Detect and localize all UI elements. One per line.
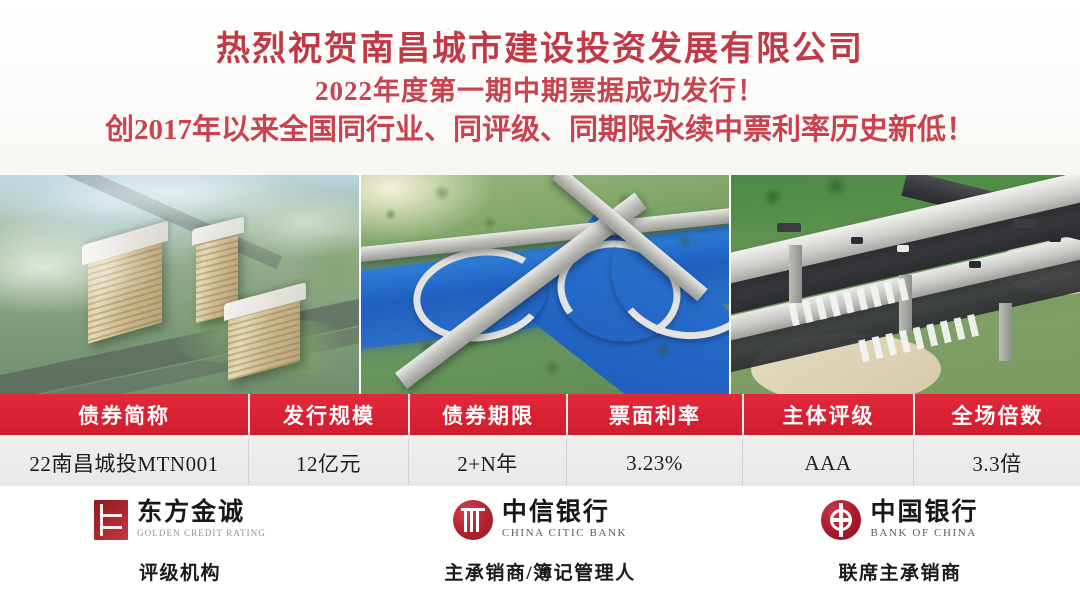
- bond-summary-table: 债券简称 发行规模 债券期限 票面利率 主体评级 全场倍数 22南昌城投MTN0…: [0, 394, 1080, 489]
- headline-line-1: 热烈祝贺南昌城市建设投资发展有限公司: [0, 28, 1080, 72]
- china-citic-bank-mark-icon: [453, 500, 493, 540]
- china-citic-bank-logo: 中信银行 CHINA CITIC BANK: [453, 496, 627, 544]
- golden-credit-rating-name-cn: 东方金诚: [137, 499, 245, 526]
- table-cell-subscription-multiple: 3.3倍: [913, 438, 1080, 488]
- table-cell-bond-name: 22南昌城投MTN001: [0, 438, 248, 488]
- sponsor-china-citic-bank: 中信银行 CHINA CITIC BANK 主承销商/簿记管理人: [360, 486, 720, 608]
- table-header-issuer-rating: 主体评级: [742, 394, 913, 435]
- bank-of-china-name-en: BANK OF CHINA: [870, 526, 976, 541]
- golden-credit-rating-logo: 东方金诚 GOLDEN CREDIT RATING: [94, 496, 266, 544]
- photo3-vehicle-1: [851, 237, 863, 244]
- photo-river-interchange-aerial: [359, 175, 730, 394]
- photo3-vehicle-bus-2: [1013, 219, 1037, 228]
- golden-credit-rating-mark-icon: [94, 500, 128, 540]
- sponsor-golden-credit-rating: 东方金诚 GOLDEN CREDIT RATING 评级机构: [0, 486, 360, 608]
- table-row: 22南昌城投MTN001 12亿元 2+N年 3.23% AAA 3.3倍: [0, 438, 1080, 489]
- photo3-vehicle-4: [1049, 235, 1061, 242]
- photo1-cloud-haze: [0, 175, 359, 394]
- china-citic-bank-name-en: CHINA CITIC BANK: [502, 526, 627, 541]
- photo3-vehicle-2: [897, 245, 909, 252]
- headline-line-3: 创2017年以来全国同行业、同评级、同期限永续中票利率历史新低！: [0, 110, 1080, 150]
- bank-of-china-mark-bar: [833, 518, 849, 522]
- headline-block: 热烈祝贺南昌城市建设投资发展有限公司 2022年度第一期中期票据成功发行！ 创2…: [0, 0, 1080, 175]
- photo3-bridge-pier-1: [789, 245, 802, 303]
- golden-credit-rating-name-en: GOLDEN CREDIT RATING: [137, 526, 266, 541]
- china-citic-bank-name-cn: 中信银行: [502, 499, 610, 526]
- photo3-bridge-pier-3: [999, 303, 1012, 361]
- sponsor-role-rating-agency: 评级机构: [139, 558, 221, 585]
- sponsor-bank-of-china: 中国银行 BANK OF CHINA 联席主承销商: [720, 486, 1080, 608]
- table-cell-issuer-rating: AAA: [742, 438, 913, 488]
- table-header-bond-name: 债券简称: [0, 394, 248, 435]
- photo3-vehicle-3: [969, 261, 981, 268]
- china-citic-bank-names: 中信银行 CHINA CITIC BANK: [502, 499, 627, 541]
- bank-of-china-name-cn: 中国银行: [870, 499, 978, 526]
- bank-of-china-names: 中国银行 BANK OF CHINA: [870, 499, 978, 541]
- sponsor-row: 东方金诚 GOLDEN CREDIT RATING 评级机构 中信银行 CHIN…: [0, 486, 1080, 608]
- table-header-coupon-rate: 票面利率: [566, 394, 742, 435]
- project-photo-strip: [0, 175, 1080, 394]
- golden-credit-rating-names: 东方金诚 GOLDEN CREDIT RATING: [137, 499, 266, 541]
- table-cell-issue-size: 12亿元: [248, 438, 408, 488]
- photo-elevated-overpass-aerial: [729, 175, 1080, 394]
- headline-line-2: 2022年度第一期中期票据成功发行！: [0, 72, 1080, 110]
- table-cell-tenor: 2+N年: [408, 438, 566, 488]
- table-header-tenor: 债券期限: [408, 394, 566, 435]
- sponsor-role-joint-underwriter: 联席主承销商: [838, 558, 961, 585]
- photo3-vehicle-bus: [777, 223, 801, 232]
- sponsor-role-lead-underwriter: 主承销商/簿记管理人: [444, 558, 635, 585]
- table-header-row: 债券简称 发行规模 债券期限 票面利率 主体评级 全场倍数: [0, 394, 1080, 438]
- bank-of-china-mark-icon: [821, 500, 861, 540]
- bank-of-china-logo: 中国银行 BANK OF CHINA: [821, 496, 978, 544]
- photo-residential-towers-aerial: [0, 175, 359, 394]
- bond-issuance-poster: 热烈祝贺南昌城市建设投资发展有限公司 2022年度第一期中期票据成功发行！ 创2…: [0, 0, 1080, 608]
- table-cell-coupon-rate: 3.23%: [566, 438, 742, 488]
- table-header-subscription-multiple: 全场倍数: [913, 394, 1080, 435]
- table-header-issue-size: 发行规模: [248, 394, 408, 435]
